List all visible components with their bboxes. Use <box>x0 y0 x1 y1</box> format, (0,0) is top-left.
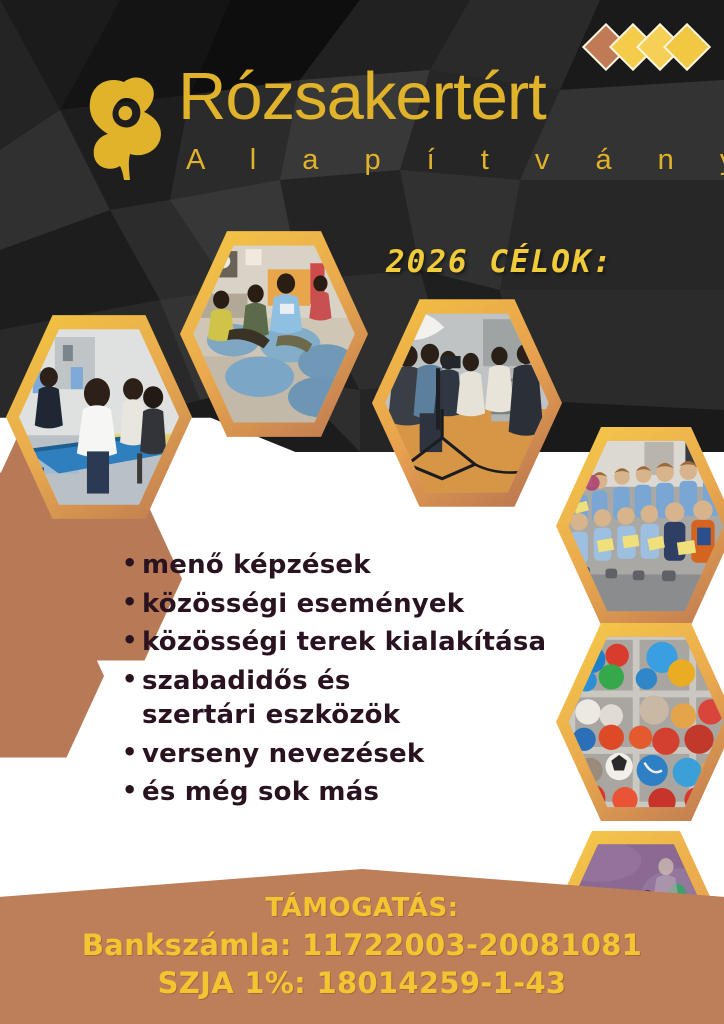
photo-table-tennis <box>19 327 179 508</box>
bullet-dot-icon: • <box>122 737 142 769</box>
diamond-4-icon <box>663 23 711 71</box>
diamond-decoration-group <box>596 30 704 64</box>
logo-subtitle: A l a p í t v á n y <box>186 144 724 177</box>
bullet-dot-icon: • <box>122 548 142 580</box>
list-item: • közösségi terek kialakítása <box>122 625 592 660</box>
list-item: • verseny nevezések <box>122 737 592 772</box>
list-item: • menő képzések <box>122 548 592 583</box>
logo-block: Rózsakertért A l a p í t v á n y <box>78 62 638 192</box>
support-banner: TÁMOGATÁS: Bankszámla: 11722003-20081081… <box>0 869 724 1024</box>
logo-title: Rózsakertért <box>178 62 546 132</box>
page-title: 2026 CÉLOK: <box>386 244 613 280</box>
list-item-label: verseny nevezések <box>142 737 592 772</box>
list-item-label: közösségi események <box>142 587 592 622</box>
poster-root: Rózsakertért A l a p í t v á n y 2026 CÉ… <box>0 0 724 1024</box>
list-item: • és még sok más <box>122 775 592 810</box>
support-title: TÁMOGATÁS: <box>265 893 458 923</box>
bank-account-line: Bankszámla: 11722003-20081081 <box>82 928 642 962</box>
list-item-label: közösségi terek kialakítása <box>142 625 592 660</box>
photo-video-workshop <box>385 311 548 495</box>
list-item-label: menő képzések <box>142 548 592 583</box>
tax-donation-line: SZJA 1%: 18014259-1-43 <box>158 966 567 1000</box>
bullet-dot-icon: • <box>122 664 142 696</box>
bullet-dot-icon: • <box>122 625 142 657</box>
list-item: • szabadidős és szertári eszközök <box>122 664 452 733</box>
bullet-dot-icon: • <box>122 775 142 807</box>
goals-list: • menő képzések • közösségi események • … <box>122 548 592 814</box>
bullet-dot-icon: • <box>122 587 142 619</box>
rose-heart-logo-icon <box>78 74 174 182</box>
list-item-label: szabadidős és szertári eszközök <box>142 664 452 733</box>
photo-beanbag-lounge <box>193 243 355 425</box>
list-item: • közösségi események <box>122 587 592 622</box>
list-item-label: és még sok más <box>142 775 592 810</box>
